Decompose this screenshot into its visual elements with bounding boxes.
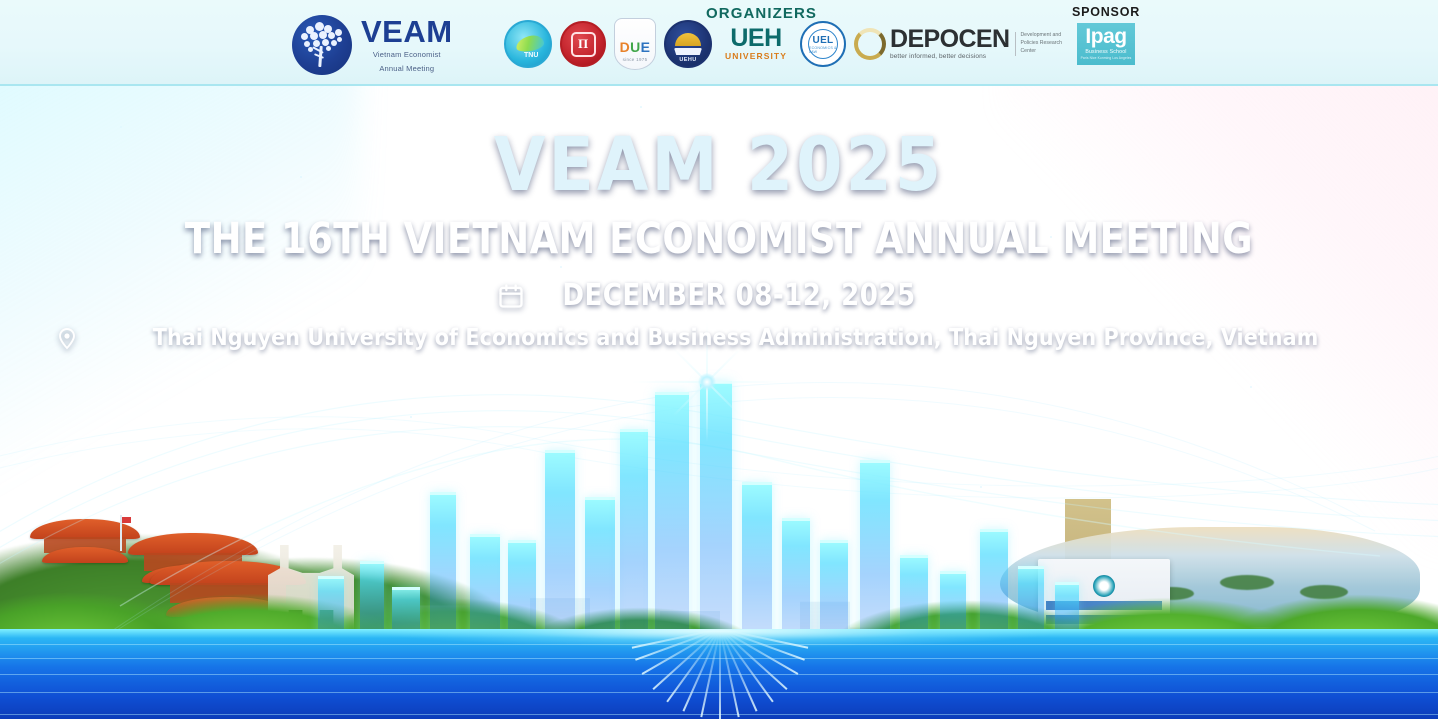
hero-date: DECEMBER 08-12, 2025: [562, 278, 915, 313]
uel-sublabel: ECONOMICS & LAW: [809, 46, 837, 54]
hero-venue-row: Thai Nguyen University of Economics and …: [0, 325, 1438, 351]
veam-subtitle-line2: Annual Meeting: [361, 64, 453, 74]
uehu-arc-icon: [675, 33, 701, 46]
sponsor-caption: SPONSOR: [1062, 5, 1150, 19]
organizer-logo-due[interactable]: DUE since 1975: [614, 18, 656, 70]
sponsor-block: SPONSOR Ipag Business School Paris Nice …: [1062, 5, 1150, 65]
due-wordmark: DUE: [620, 40, 651, 54]
chart-bar: [742, 482, 772, 645]
depocen-tagline: better informed, better decisions: [890, 53, 1009, 60]
depocen-ring-icon: [854, 28, 886, 60]
due-tagline: since 1975: [623, 57, 648, 62]
chart-bar: [860, 460, 890, 645]
sponsor-logo-ipag[interactable]: Ipag Business School Paris Nice Kunming …: [1077, 23, 1135, 65]
chart-bar: [782, 518, 810, 645]
organizer-logo-uel[interactable]: UEL ECONOMICS & LAW: [800, 21, 846, 67]
hero-venue: Thai Nguyen University of Economics and …: [153, 325, 1319, 351]
chart-bar: [545, 450, 575, 645]
ueh-wordmark: UEH: [730, 27, 781, 51]
organizer-logo-uehu[interactable]: UEHU: [664, 20, 712, 68]
organizer-logo-ftu[interactable]: Π: [560, 21, 606, 67]
veam-subtitle-line1: Vietnam Economist: [361, 50, 453, 60]
logo-bar: VEAM Vietnam Economist Annual Meeting TN…: [0, 0, 1438, 86]
tnu-bird-icon: [515, 34, 545, 53]
ftu-monogram-icon: Π: [571, 32, 596, 57]
ueh-tagline: UNIVERSITY: [725, 51, 787, 61]
perspective-grid-floor: [0, 629, 1438, 719]
uel-ring-icon: UEL ECONOMICS & LAW: [808, 29, 838, 59]
veam-brand-logo[interactable]: VEAM Vietnam Economist Annual Meeting: [292, 15, 453, 75]
ipag-wordmark: Ipag: [1085, 28, 1126, 47]
hero-text-stack: VEAM 2025 THE 16TH VIETNAM ECONOMIST ANN…: [0, 86, 1438, 351]
veam-name: VEAM: [361, 16, 453, 47]
tnu-label: TNU: [524, 52, 538, 59]
hero-banner: VEAM 2025 THE 16TH VIETNAM ECONOMIST ANN…: [0, 86, 1438, 719]
ipag-tagline: Business School: [1085, 49, 1126, 55]
ipag-subtagline: Paris Nice Kunming Los Angeles: [1081, 56, 1132, 60]
uehu-label: UEHU: [679, 57, 696, 63]
logo-bar-inner: VEAM Vietnam Economist Annual Meeting TN…: [0, 0, 1438, 85]
chart-bar: [980, 529, 1008, 645]
bar-chart-bars: [0, 355, 1438, 645]
organizer-logo-depocen[interactable]: DEPOCEN better informed, better decision…: [854, 28, 1065, 60]
location-pin-icon: [55, 326, 79, 350]
organizer-logo-ueh[interactable]: UEH UNIVERSITY: [720, 27, 792, 62]
calendar-icon: [497, 282, 525, 310]
chart-bar: [700, 381, 732, 645]
organizer-logo-row: TNU Π DUE since 1975 UEHU UEH UNIVERSITY: [504, 17, 1065, 71]
hero-subtitle: THE 16TH VIETNAM ECONOMIST ANNUAL MEETIN…: [101, 214, 1338, 264]
depocen-text: DEPOCEN better informed, better decision…: [890, 28, 1009, 60]
organizers-caption: ORGANIZERS: [706, 5, 817, 22]
chart-bar: [655, 392, 689, 645]
page-title: VEAM 2025: [0, 122, 1438, 208]
organizer-logo-tnu[interactable]: TNU: [504, 20, 552, 68]
chart-bar: [585, 497, 615, 645]
uel-label: UEL: [813, 35, 834, 46]
hero-date-row: DECEMBER 08-12, 2025: [0, 278, 1438, 313]
depocen-wordmark: DEPOCEN: [890, 28, 1009, 52]
uehu-book-icon: [674, 48, 702, 55]
chart-bar: [620, 429, 648, 645]
veam-tree-circle-icon: [292, 15, 352, 75]
veam-wordmark: VEAM Vietnam Economist Annual Meeting: [361, 16, 453, 73]
poster-page: VEAM Vietnam Economist Annual Meeting TN…: [0, 0, 1438, 719]
chart-bar: [430, 492, 456, 645]
depocen-description: Development and Policies Research Center: [1015, 32, 1065, 55]
bar-chart-graphic: [0, 355, 1438, 645]
